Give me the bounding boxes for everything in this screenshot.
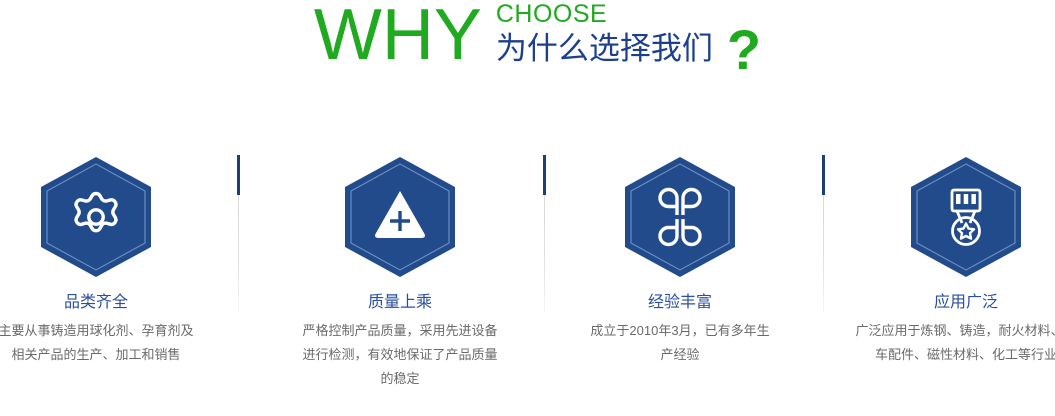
gear-icon: [37, 155, 155, 279]
hexagon-badge: [341, 155, 459, 279]
divider-line: [823, 195, 824, 313]
clover-icon: [621, 155, 739, 279]
feature-cards-row: 品类齐全 主要从事铸造用球化剂、孕育剂及相关产品的生产、加工和销售 质量上乘 严…: [0, 148, 1055, 416]
card-title: 应用广泛: [848, 293, 1055, 313]
hexagon-badge: [907, 155, 1025, 279]
card-description: 严格控制产品质量，采用先进设备进行检测，有效地保证了产品质量的稳定: [282, 319, 518, 391]
triangle-plus-icon: [341, 155, 459, 279]
card-title: 质量上乘: [282, 293, 518, 313]
card-description: 广泛应用于炼钢、铸造，耐火材料、汽车配件、磁性材料、化工等行业: [848, 319, 1055, 367]
feature-card[interactable]: 品类齐全 主要从事铸造用球化剂、孕育剂及相关产品的生产、加工和销售: [0, 148, 214, 367]
feature-card[interactable]: 应用广泛 广泛应用于炼钢、铸造，耐火材料、汽车配件、磁性材料、化工等行业: [848, 148, 1055, 367]
column-divider: [543, 155, 546, 315]
divider-accent-segment: [822, 155, 825, 195]
hexagon-badge: [621, 155, 739, 279]
hexagon-badge: [37, 155, 155, 279]
divider-line: [544, 195, 545, 313]
heading-mid-block: CHOOSE 为什么选择我们: [496, 1, 713, 68]
card-title: 经验丰富: [562, 293, 798, 313]
divider-accent-segment: [543, 155, 546, 195]
medal-icon: [907, 155, 1025, 279]
column-divider: [237, 155, 240, 315]
card-title: 品类齐全: [0, 293, 214, 313]
heading-chinese: 为什么选择我们: [496, 30, 713, 68]
divider-accent-segment: [237, 155, 240, 195]
heading-choose: CHOOSE: [496, 1, 713, 28]
feature-card[interactable]: 经验丰富 成立于2010年3月，已有多年生产经验: [562, 148, 798, 367]
card-description: 主要从事铸造用球化剂、孕育剂及相关产品的生产、加工和销售: [0, 319, 214, 367]
heading-why: WHY: [314, 0, 482, 72]
feature-card[interactable]: 质量上乘 严格控制产品质量，采用先进设备进行检测，有效地保证了产品质量的稳定: [282, 148, 518, 391]
header-inner: WHY CHOOSE 为什么选择我们 ?: [314, 0, 761, 78]
divider-line: [238, 195, 239, 313]
column-divider: [822, 155, 825, 315]
section-header: WHY CHOOSE 为什么选择我们 ?: [0, 0, 1055, 100]
card-description: 成立于2010年3月，已有多年生产经验: [562, 319, 798, 367]
question-mark-icon: ?: [727, 22, 761, 78]
